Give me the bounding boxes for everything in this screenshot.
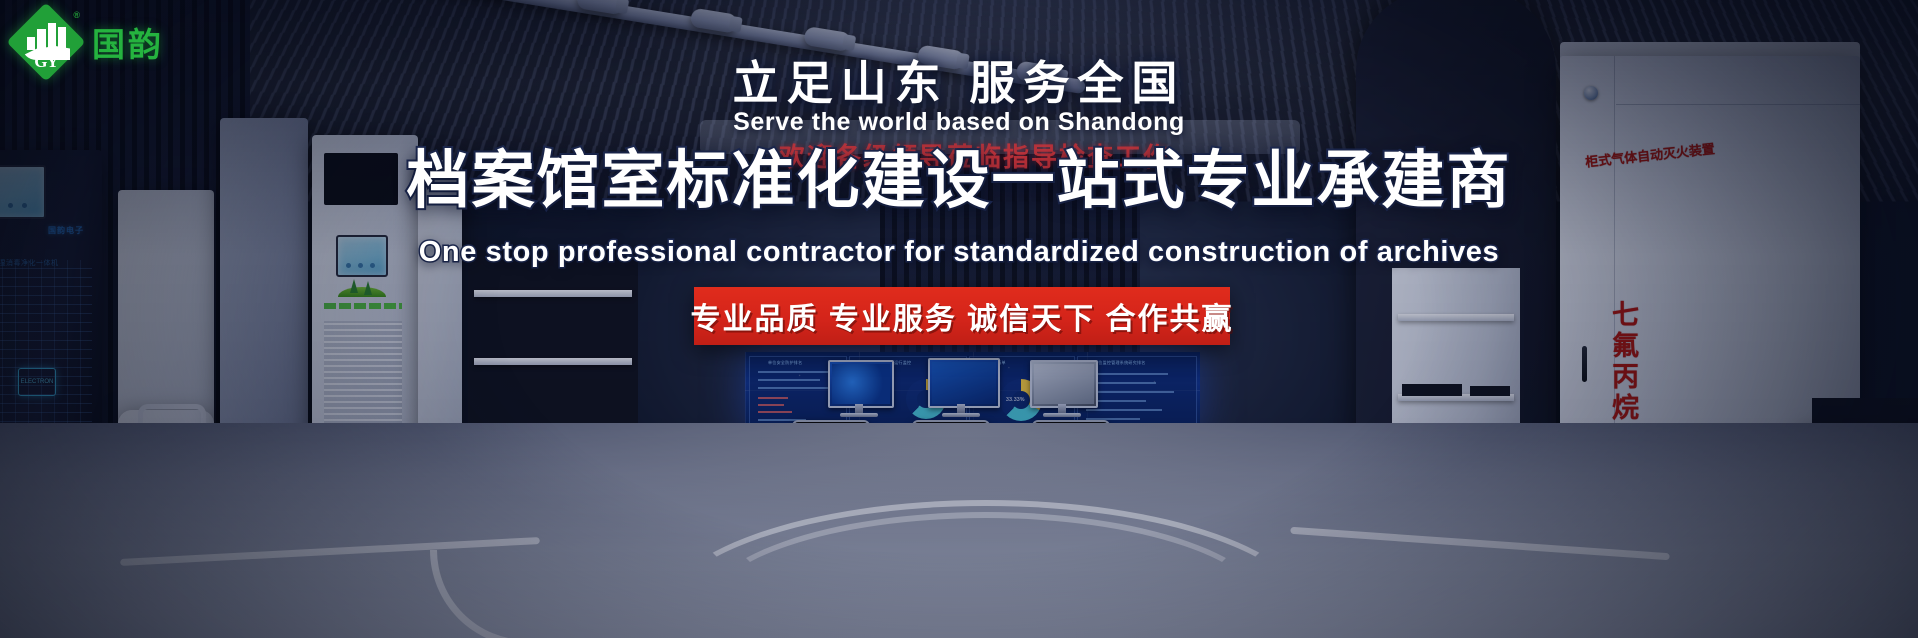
logo-diamond-icon: GY ® <box>10 6 82 78</box>
building-icon <box>27 22 67 50</box>
brand-logo[interactable]: GY ® 国韵 <box>10 6 164 78</box>
registered-trademark-icon: ® <box>73 10 80 20</box>
logo-gy-text: GY <box>10 52 82 72</box>
hero-banner: 单位安全防护排名 机房环境、设备运行监控 机房动环清单 33.33% 单位监控管… <box>0 0 1918 638</box>
eyebrow-headline-en: Serve the world based on Shandong <box>0 108 1918 137</box>
banner-content: 立足山东 服务全国 Serve the world based on Shand… <box>0 0 1918 638</box>
page-title-en: One stop professional contractor for sta… <box>0 236 1918 269</box>
slogan-text: 专业品质 专业服务 诚信天下 合作共赢 <box>691 294 1234 338</box>
page-title-cn: 档案馆室标准化建设一站式专业承建商 <box>0 147 1918 215</box>
eyebrow-headline-cn: 立足山东 服务全国 <box>0 47 1918 113</box>
slogan-banner: 专业品质 专业服务 诚信天下 合作共赢 <box>694 287 1230 345</box>
logo-wordmark: 国韵 <box>92 18 164 66</box>
